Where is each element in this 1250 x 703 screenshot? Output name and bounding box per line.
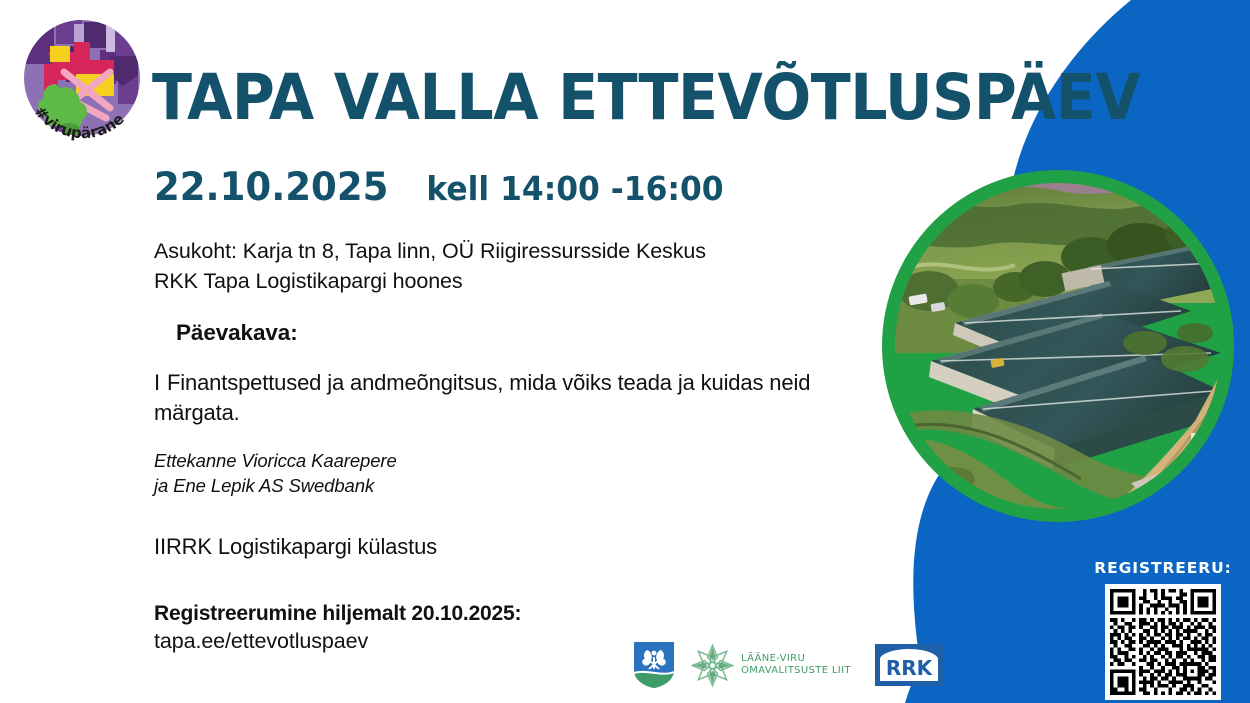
poster-datetime: 22.10.2025 kell 14:00 -16:00 (154, 168, 724, 207)
poster-date: 22.10.2025 (154, 168, 388, 207)
laane-viru-liit-logo: LÄÄNE-VIRU OMAVALITSUSTE LIIT (690, 643, 851, 688)
qr-code[interactable] (1105, 584, 1221, 700)
laane-viru-liit-label: LÄÄNE-VIRU OMAVALITSUSTE LIIT (741, 653, 851, 678)
agenda-item-2-text: RRK Logistikapargi külastus (166, 534, 437, 559)
register-cta-block: REGISTREERU: (1089, 559, 1237, 700)
agenda-item-2: IIRRK Logistikapargi külastus (154, 534, 854, 560)
registration-deadline-label: Registreerumine hiljemalt 20.10.2025: (154, 602, 854, 626)
poster-time: kell 14:00 -16:00 (426, 172, 723, 205)
agenda-item-1-numeral: I (154, 370, 160, 395)
laane-viru-star-icon (690, 643, 735, 688)
location-line-2: RKK Tapa Logistikapargi hoones (154, 266, 854, 296)
laane-viru-liit-label-line-2: OMAVALITSUSTE LIIT (741, 665, 851, 678)
agenda-heading: Päevakava: (176, 320, 854, 346)
register-cta-label: REGISTREERU: (1089, 559, 1237, 577)
agenda-item-1-text: Finantspettused ja andmeõngitsus, mida v… (154, 370, 810, 425)
agenda-item-2-numeral: II (154, 534, 166, 559)
rrk-logo-text: RRK (886, 656, 934, 680)
agenda-item-1-presenter: Ettekanne Vioricca Kaarepere ja Ene Lepi… (154, 448, 854, 498)
poster-title: TAPA VALLA ETTEVÕTLUSPÄEV (152, 66, 1140, 129)
tapa-vald-coat-of-arms-logo (632, 640, 676, 690)
virioparane-logo: #virupärane (14, 12, 162, 160)
laane-viru-liit-label-line-1: LÄÄNE-VIRU (741, 653, 851, 666)
logistics-park-photo (895, 183, 1221, 509)
partner-logos: LÄÄNE-VIRU OMAVALITSUSTE LIIT RRK (632, 640, 943, 690)
presenter-line-1: Ettekanne Vioricca Kaarepere (154, 448, 854, 473)
poster-body: Asukoht: Karja tn 8, Tapa linn, OÜ Riigi… (154, 236, 854, 654)
logistics-park-photo-frame (882, 170, 1234, 522)
poster-root: { "poster": { "title": "TAPA VALLA ETTEV… (0, 0, 1250, 703)
agenda-item-1: IFinantspettused ja andmeõngitsus, mida … (154, 368, 854, 428)
location-line-1: Asukoht: Karja tn 8, Tapa linn, OÜ Riigi… (154, 236, 854, 266)
rrk-logo: RRK (875, 644, 943, 686)
presenter-line-2: ja Ene Lepik AS Swedbank (154, 473, 854, 498)
